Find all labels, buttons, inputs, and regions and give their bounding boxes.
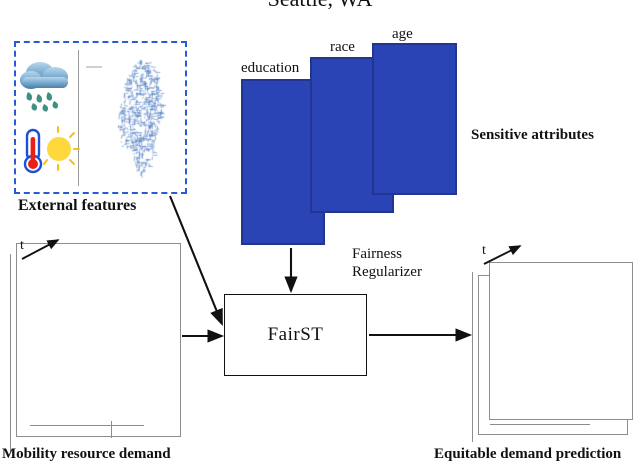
thermometer-sun-icon: [18, 126, 80, 176]
fairst-model-box: FairST: [224, 294, 367, 376]
input-time-axis-label: t: [20, 238, 24, 254]
road-network-map-icon: [96, 52, 180, 182]
input-panel-axis-vertical: [10, 254, 11, 452]
heatmap-label-race: race: [330, 39, 355, 56]
heatmap-label-age: age: [392, 26, 413, 43]
output-panel-axis-horizontal: [490, 424, 590, 425]
output-panel-label: Equitable demand prediction: [434, 446, 621, 463]
fairness-regularizer-label-line1: Fairness: [352, 246, 402, 263]
mobility-demand-map: [22, 249, 176, 431]
output-time-axis-label: t: [482, 243, 486, 259]
fairness-regularizer-label-line2: Regularizer: [352, 264, 422, 281]
sensitive-attributes-label: Sensitive attributes: [471, 127, 594, 144]
figure-canvas: Seattle, WA: [0, 0, 640, 467]
fairst-model-label: FairST: [225, 295, 366, 375]
heatmap-age: [372, 43, 457, 195]
equitable-prediction-map: [498, 258, 633, 423]
heatmap-label-education: education: [241, 60, 299, 77]
rain-cloud-icon: [16, 56, 78, 114]
figure-title: Seattle, WA: [0, 0, 640, 12]
external-features-label: External features: [18, 197, 136, 215]
output-panel-axis-vertical: [472, 272, 473, 442]
input-panel-label: Mobility resource demand: [2, 446, 171, 463]
